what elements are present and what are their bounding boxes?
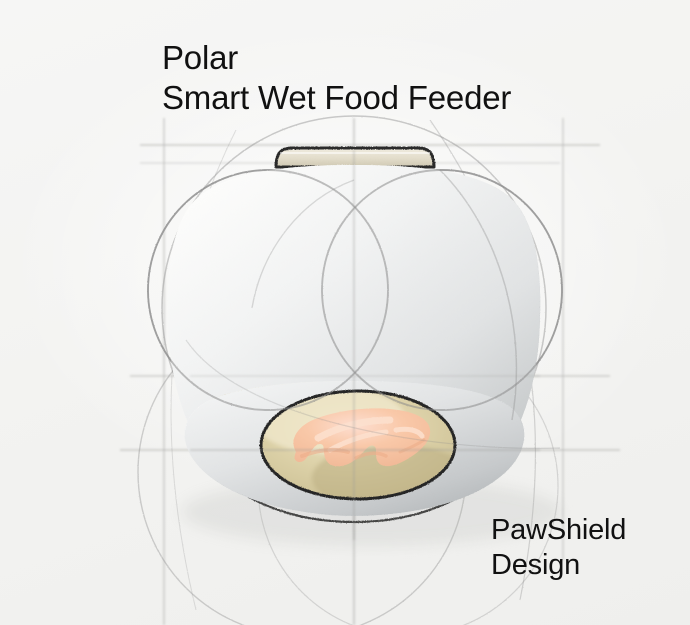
brand-annotation: PawShield Design (491, 513, 626, 584)
page-title: Polar Smart Wet Food Feeder (162, 38, 511, 119)
concept-sketch-canvas: Polar Smart Wet Food Feeder PawShield De… (0, 0, 690, 625)
lid-tab (276, 148, 434, 167)
